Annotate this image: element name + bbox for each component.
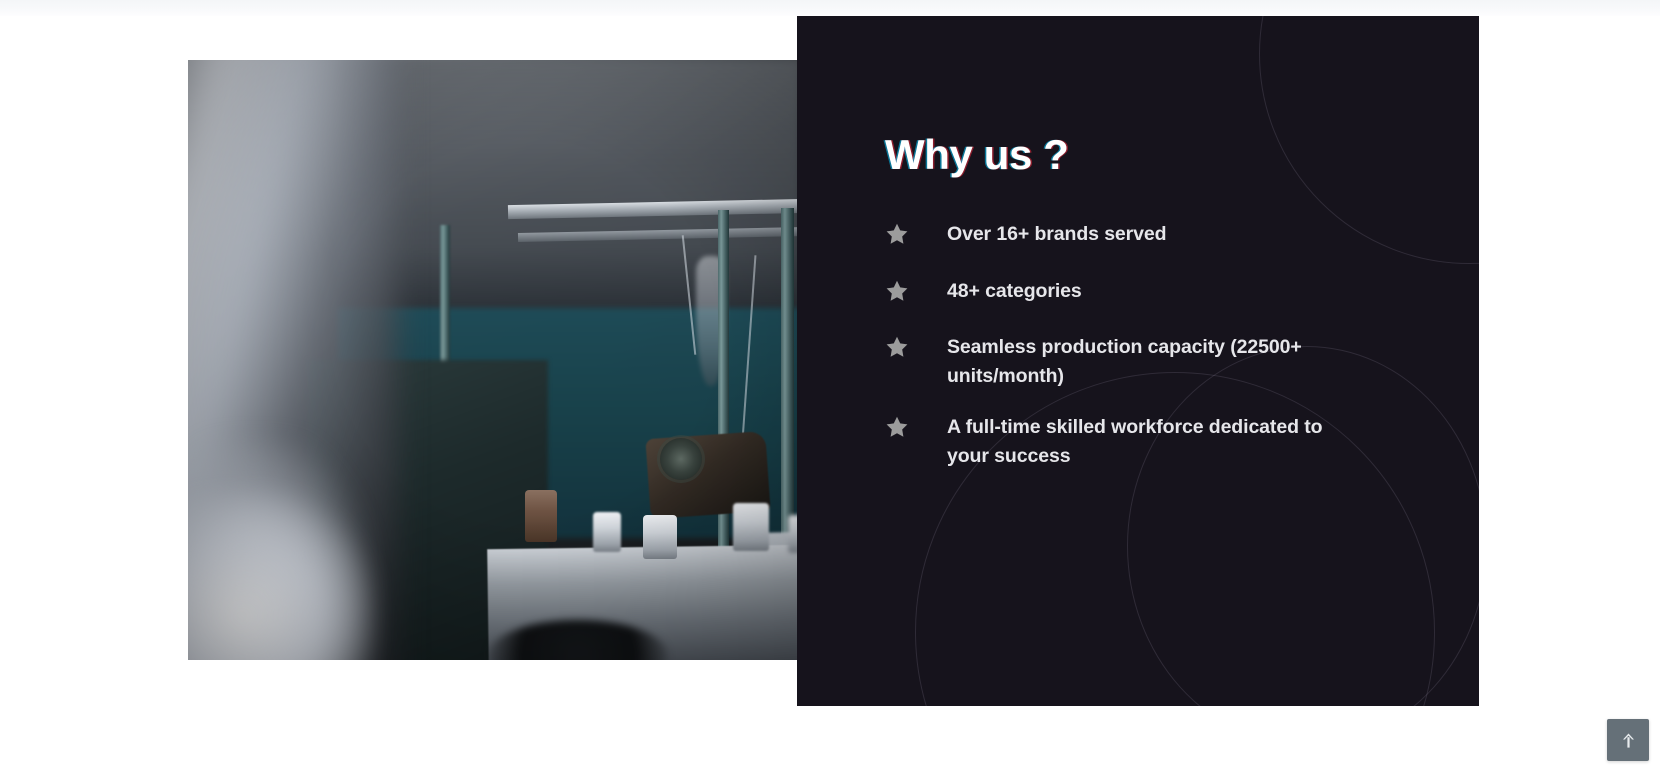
list-item: 48+ categories bbox=[885, 277, 1445, 311]
star-icon bbox=[885, 415, 909, 439]
star-icon bbox=[885, 279, 909, 303]
photo-layer-vignette bbox=[188, 60, 800, 660]
panel-content: Why us ? Over 16+ brands served bbox=[885, 16, 1445, 706]
why-us-panel: Why us ? Over 16+ brands served bbox=[797, 16, 1479, 706]
list-item: A full-time skilled workforce dedicated … bbox=[885, 413, 1445, 471]
feature-label: Over 16+ brands served bbox=[947, 220, 1166, 249]
page-root: Why us ? Over 16+ brands served bbox=[0, 0, 1660, 777]
scroll-to-top-button[interactable] bbox=[1607, 719, 1649, 761]
arrow-up-icon bbox=[1621, 732, 1636, 749]
photo-canvas bbox=[188, 60, 800, 660]
factory-machine-photo bbox=[188, 60, 800, 660]
feature-label: Seamless production capacity (22500+ uni… bbox=[947, 333, 1367, 391]
star-icon bbox=[885, 222, 909, 246]
feature-label: 48+ categories bbox=[947, 277, 1082, 306]
feature-label: A full-time skilled workforce dedicated … bbox=[947, 413, 1367, 471]
feature-list: Over 16+ brands served 48+ categories bbox=[885, 220, 1445, 471]
list-item: Seamless production capacity (22500+ uni… bbox=[885, 333, 1445, 391]
star-icon bbox=[885, 335, 909, 359]
list-item: Over 16+ brands served bbox=[885, 220, 1445, 254]
top-gradient-strip bbox=[0, 0, 1660, 16]
page-title: Why us ? bbox=[885, 132, 1068, 178]
